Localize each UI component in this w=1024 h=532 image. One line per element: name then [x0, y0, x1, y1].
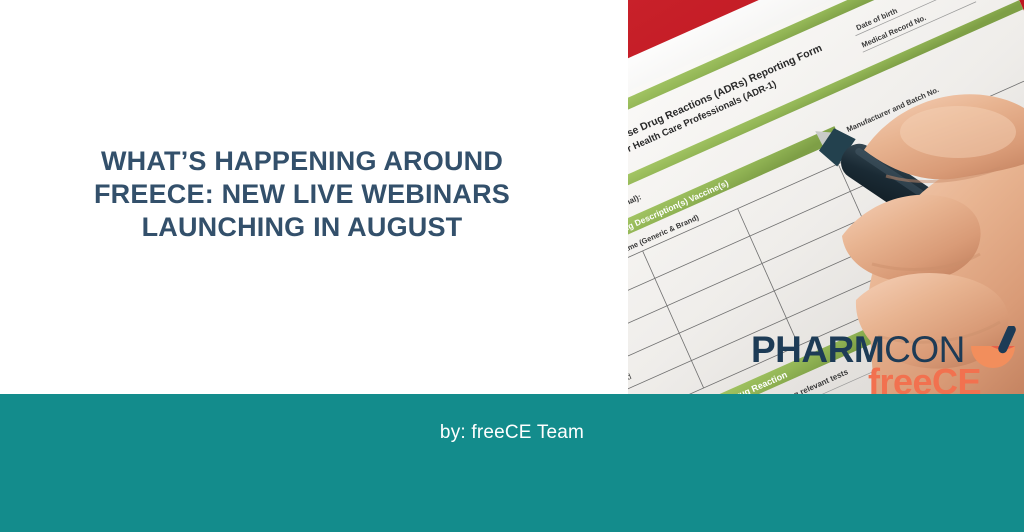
- byline: by: freeCE Team: [0, 422, 1024, 444]
- hero-photo: Adverse Drug Reactions (ADRs) Reporting …: [628, 0, 1024, 394]
- footer-band: by: freeCE Team: [0, 394, 1024, 532]
- page-title: WHAT’S HAPPENING AROUND FREECE: NEW LIVE…: [87, 145, 517, 244]
- title-panel: WHAT’S HAPPENING AROUND FREECE: NEW LIVE…: [0, 0, 628, 394]
- slide-canvas: WHAT’S HAPPENING AROUND FREECE: NEW LIVE…: [0, 0, 1024, 532]
- adr-form-photo-illustration: Adverse Drug Reactions (ADRs) Reporting …: [628, 0, 1024, 394]
